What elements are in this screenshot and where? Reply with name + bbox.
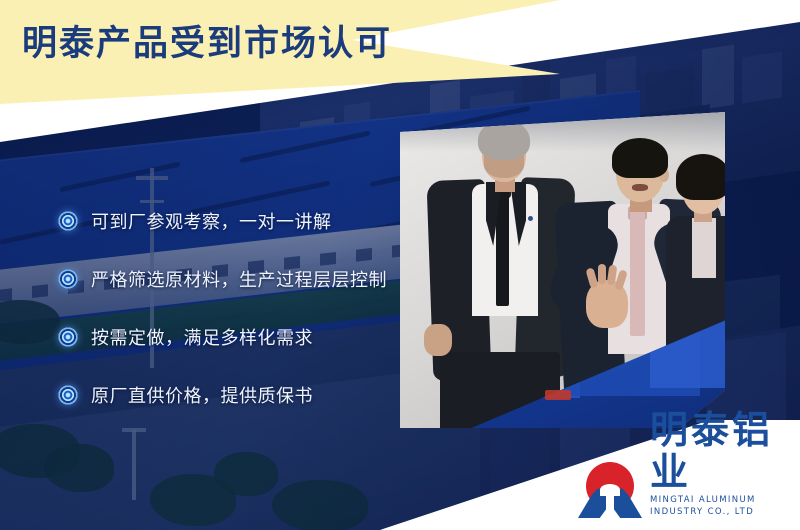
feature-item-2: 严格筛选原材料，生产过程层层控制: [58, 264, 418, 294]
mingtai-logo-icon: [578, 460, 642, 518]
lapel-pin-icon: [528, 216, 533, 221]
feature-list: 可到厂参观考察，一对一讲解 严格筛选原材料，生产过程层层控制 按需定做，满足多样…: [58, 206, 418, 438]
person-center-hand-left: [586, 280, 628, 328]
feature-item-label: 原厂直供价格，提供质保书: [91, 382, 313, 408]
target-circle-icon: [58, 211, 78, 231]
feature-item-1: 可到厂参观考察，一对一讲解: [58, 206, 418, 236]
feature-item-label: 按需定做，满足多样化需求: [91, 324, 313, 350]
feature-item-label: 可到厂参观考察，一对一讲解: [91, 208, 332, 234]
factory-roof-logo-icon: [545, 390, 571, 400]
promo-banner: 明泰产品受到市场认可 可到厂参观考察，一对一讲解 严格筛选原材料，生产过程层层控…: [0, 0, 800, 530]
target-circle-icon: [58, 269, 78, 289]
page-title: 明泰产品受到市场认可: [22, 22, 392, 66]
target-circle-icon: [58, 327, 78, 347]
person-center-hair: [612, 138, 668, 178]
person-center-tie: [630, 210, 645, 336]
company-name-en: MINGTAI ALUMINUM INDUSTRY CO., LTD: [650, 494, 800, 518]
target-circle-icon: [58, 385, 78, 405]
company-name-cn: 明泰铝业: [650, 409, 800, 493]
feature-item-3: 按需定做，满足多样化需求: [58, 322, 418, 352]
feature-item-4: 原厂直供价格，提供质保书: [58, 380, 418, 410]
feature-item-label: 严格筛选原材料，生产过程层层控制: [91, 266, 387, 292]
company-logo: 明泰铝业 MINGTAI ALUMINUM INDUSTRY CO., LTD: [578, 409, 800, 518]
